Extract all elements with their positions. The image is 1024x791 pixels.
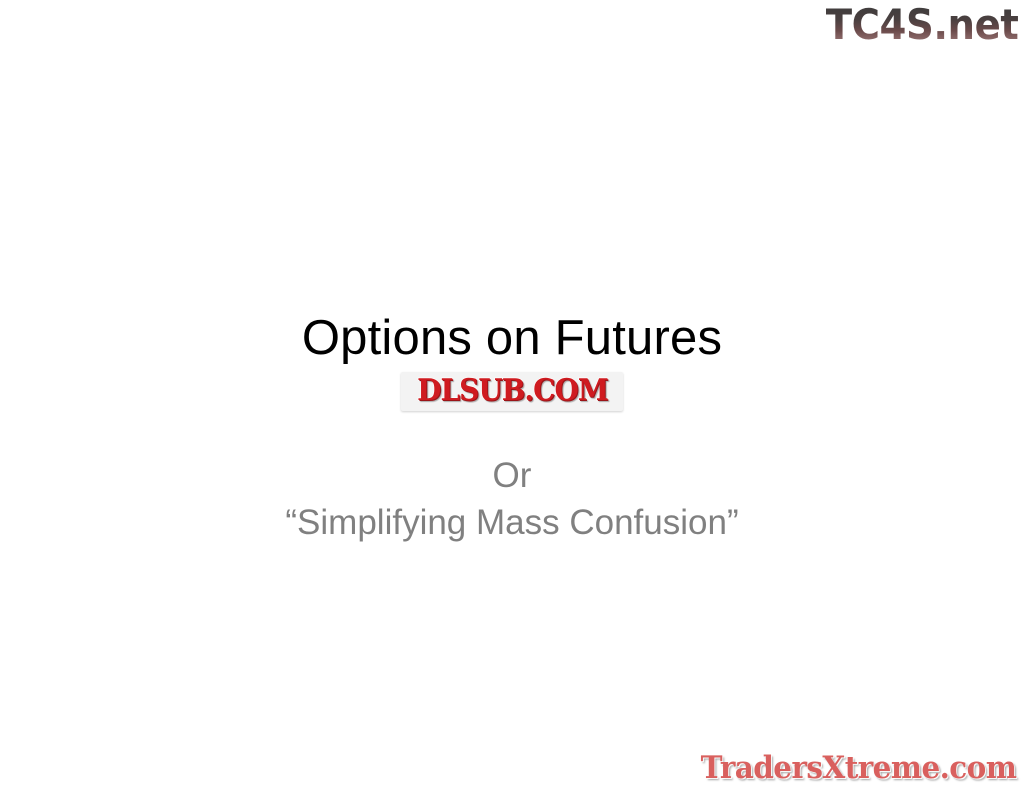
- subtitle-line-2: “Simplifying Mass Confusion”: [0, 499, 1024, 546]
- presentation-slide: TC4S.net Options on Futures DLSUB.COM Or…: [0, 0, 1024, 791]
- subtitle-block: Or “Simplifying Mass Confusion”: [0, 452, 1024, 546]
- subtitle-line-1: Or: [0, 452, 1024, 499]
- title-block: Options on Futures: [0, 308, 1024, 368]
- tradersxtreme-logo-watermark: TradersXtreme.com: [700, 749, 1016, 787]
- dlsub-logo-text: DLSUB.COM: [417, 375, 608, 407]
- dlsub-watermark-container: DLSUB.COM: [0, 372, 1024, 411]
- dlsub-logo-plate: DLSUB.COM: [401, 372, 624, 411]
- tc4s-logo-watermark: TC4S.net: [825, 2, 1018, 48]
- page-title: Options on Futures: [0, 308, 1024, 368]
